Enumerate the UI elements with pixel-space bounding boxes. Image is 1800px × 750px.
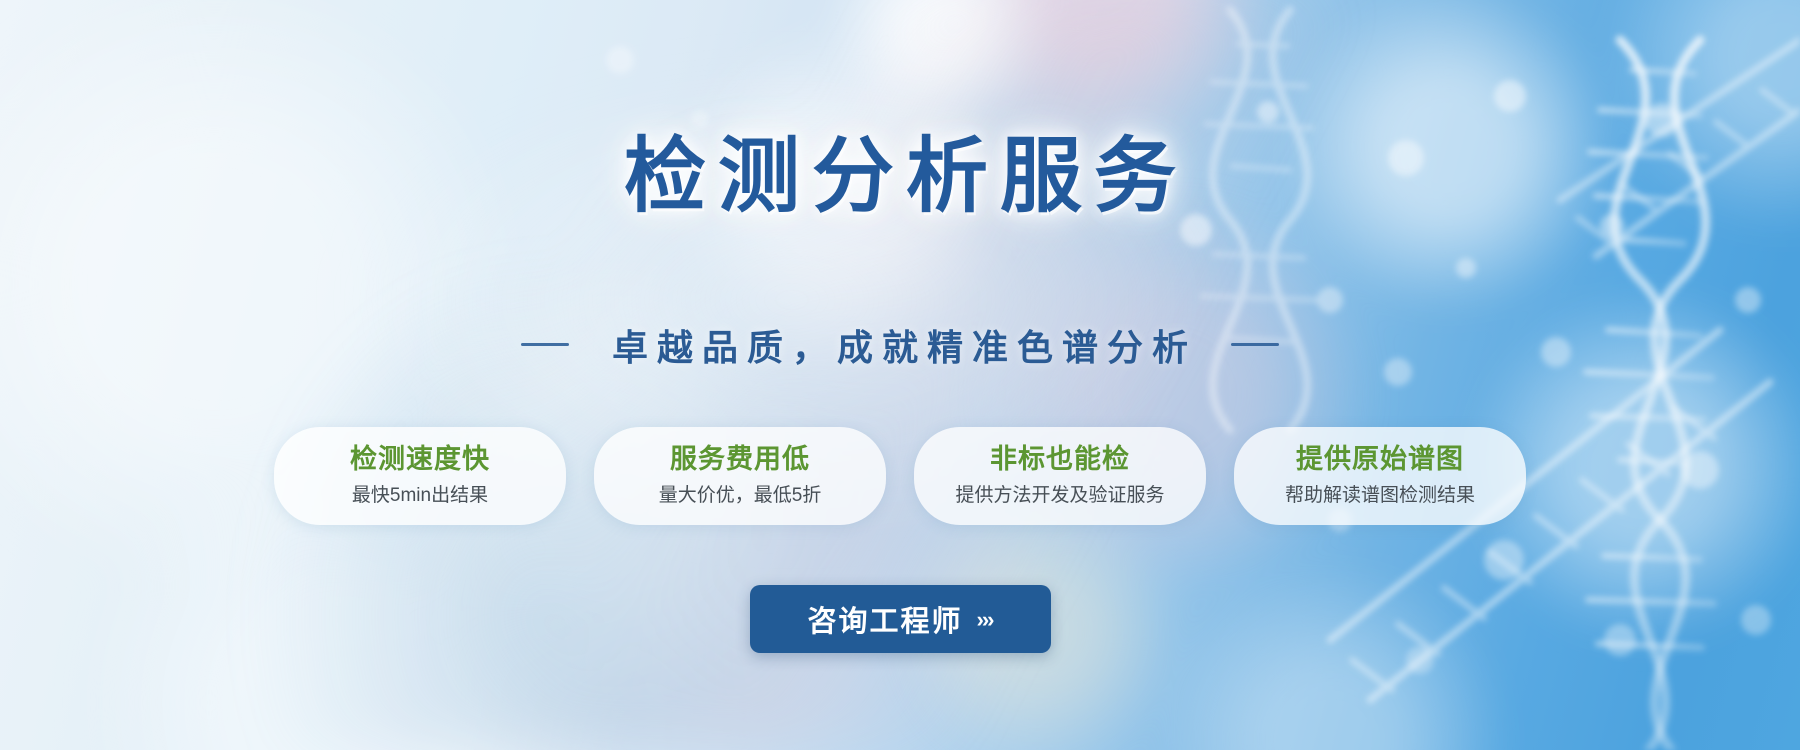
cta-wrapper: 咨询工程师 ›››: [750, 585, 1051, 653]
feature-pill-title: 非标也能检: [944, 443, 1176, 477]
feature-pill-title: 服务费用低: [624, 443, 856, 477]
dash-right-icon: [1231, 343, 1279, 346]
feature-pill-raw-spectra[interactable]: 提供原始谱图 帮助解读谱图检测结果: [1234, 427, 1526, 526]
feature-pill-desc: 量大价优，最低5折: [624, 484, 856, 508]
feature-pill-list: 检测速度快 最快5min出结果 服务费用低 量大价优，最低5折 非标也能检 提供…: [274, 427, 1526, 526]
banner-content: 检测分析服务 卓越品质，成就精准色谱分析 检测速度快 最快5min出结果 服务费…: [0, 0, 1800, 750]
consult-engineer-label: 咨询工程师: [808, 598, 963, 640]
feature-pill-speed[interactable]: 检测速度快 最快5min出结果: [274, 427, 566, 526]
feature-pill-desc: 提供方法开发及验证服务: [944, 484, 1176, 508]
feature-pill-title: 提供原始谱图: [1264, 443, 1496, 477]
feature-pill-title: 检测速度快: [304, 443, 536, 477]
page-subtitle: 卓越品质，成就精准色谱分析: [603, 319, 1197, 371]
subtitle-row: 卓越品质，成就精准色谱分析: [521, 319, 1279, 371]
dash-left-icon: [521, 343, 569, 346]
feature-pill-cost[interactable]: 服务费用低 量大价优，最低5折: [594, 427, 886, 526]
consult-engineer-button[interactable]: 咨询工程师 ›››: [750, 585, 1051, 653]
page-title: 检测分析服务: [612, 136, 1188, 218]
chevron-right-triple-icon: ›››: [977, 609, 993, 631]
hero-banner: 检测分析服务 卓越品质，成就精准色谱分析 检测速度快 最快5min出结果 服务费…: [0, 0, 1800, 750]
feature-pill-desc: 最快5min出结果: [304, 484, 536, 508]
feature-pill-desc: 帮助解读谱图检测结果: [1264, 484, 1496, 508]
feature-pill-nonstandard[interactable]: 非标也能检 提供方法开发及验证服务: [914, 427, 1206, 526]
